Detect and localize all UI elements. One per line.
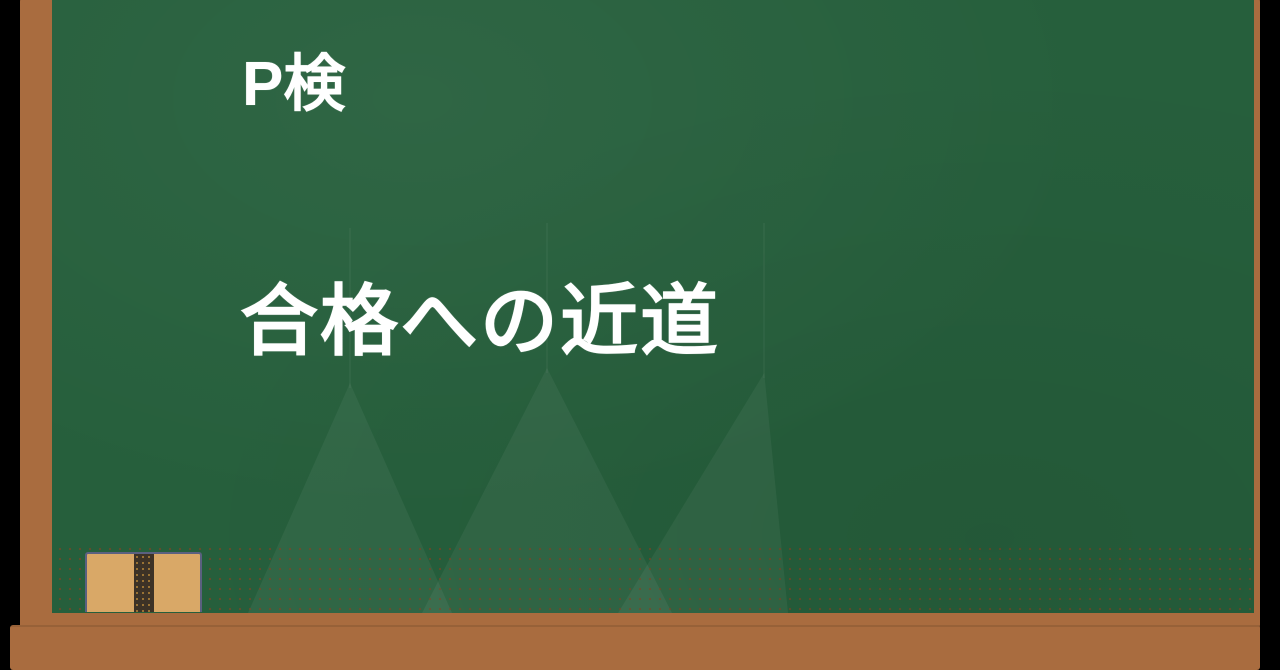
chalk-ledge <box>10 625 1260 670</box>
mountain-shape-center <box>422 368 672 613</box>
blackboard-frame: P検 合格への近道 <box>20 0 1260 641</box>
eraser-center-band <box>134 554 154 612</box>
blackboard-surface: P検 合格への近道 <box>52 0 1254 613</box>
board-headline: 合格への近道 <box>240 282 720 360</box>
board-title: P検 <box>242 54 345 116</box>
slide-canvas: P検 合格への近道 <box>0 0 1280 670</box>
mountain-shape-left <box>248 383 452 613</box>
blackboard-eraser <box>85 552 202 612</box>
peak-trail-right <box>763 223 765 378</box>
mountain-shape-right <box>618 373 788 613</box>
chalk-ledge-shadow <box>10 625 1260 627</box>
